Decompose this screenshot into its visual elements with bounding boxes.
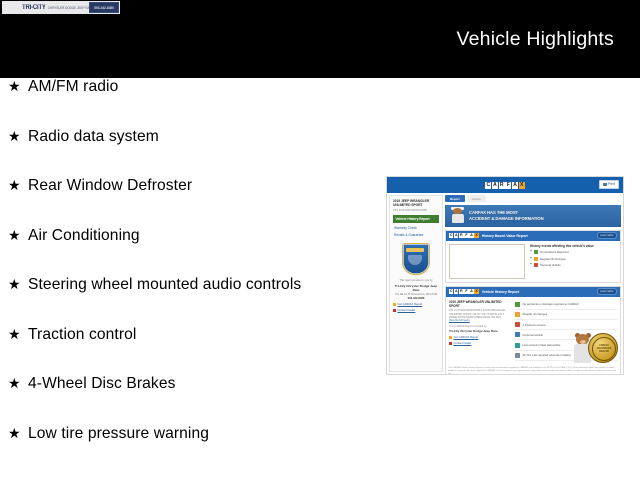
star-icon: ★ — [8, 228, 28, 242]
history-vehicle-title: 2019 JEEP WRANGLER UNLIMITED SPORT — [449, 300, 511, 308]
history-item-label: Regular oil changes — [523, 312, 548, 316]
history-get-carfax-report-link[interactable]: Get CARFAX Report — [449, 336, 511, 339]
history-vehicle-meta: VIN: 1C4HJXDG5KW510355 4-DOOR WRANGLER U… — [449, 309, 511, 319]
status-square-icon — [515, 312, 520, 317]
carfax-logo-icon: C A R F A X — [449, 289, 479, 294]
list-item-label: Traction control — [28, 326, 137, 344]
printer-icon — [603, 183, 606, 186]
star-icon: ★ — [8, 129, 28, 143]
carfax-badge-icon — [449, 336, 452, 339]
mascot-body — [452, 214, 464, 223]
status-square-icon — [515, 332, 520, 337]
logo-phone-button[interactable]: 503-342-8480 — [89, 2, 119, 13]
value-event-label: Personal Vehicle — [540, 263, 561, 267]
carfax-top-bar: C A R F A X Print — [387, 177, 623, 193]
carfax-sidebar: 2019 JEEP WRANGLER UNLIMITED SPORT VIN: … — [389, 195, 443, 372]
history-dealer-name: Tri-City Chrysler Dodge Jeep Ram — [449, 329, 511, 333]
carfax-disclaimer: This CARFAX Vehicle History Report is ba… — [446, 367, 620, 375]
sidebar-contact-dealer-link[interactable]: Contact Dealer — [393, 309, 439, 312]
carfax-logo-icon: C A R F A X — [485, 182, 524, 189]
history-item-label: 46,741 Last reported odometer reading — [523, 353, 571, 357]
plus-icon: + — [530, 250, 532, 253]
carfax-letter: R — [499, 182, 505, 189]
list-item-label: Steering wheel mounted audio controls — [28, 276, 301, 294]
list-item: ★ Low tire pressure warning — [0, 425, 380, 475]
sidebar-vehicle-title: 2019 JEEP WRANGLER UNLIMITED SPORT — [393, 199, 439, 207]
value-panel-header: C A R F A X History Based Value Report L… — [446, 231, 620, 241]
history-panel-title: Vehicle History Report — [482, 290, 519, 294]
sidebar-item-warranty-check[interactable]: Warranty Check — [393, 226, 439, 230]
print-button[interactable]: Print — [599, 180, 619, 189]
carfax-letter: X — [474, 233, 478, 238]
carfax-report-screenshot: C A R F A X Print 2019 JEEP WRANGLER UNL… — [386, 176, 624, 375]
carfax-letter: A — [492, 182, 498, 189]
carfax-letter: A — [454, 289, 458, 294]
history-based-value-panel: C A R F A X History Based Value Report L… — [445, 230, 621, 283]
value-events-column: History events affecting this vehicle's … — [530, 244, 617, 279]
list-item: ★ Air Conditioning — [0, 227, 380, 277]
value-event-row: + No Accidents Reported — [530, 250, 617, 254]
history-provided-note: This CARFAX Report Provided by — [449, 325, 511, 328]
sidebar-dealer-phone: 503-342-8480 — [393, 297, 439, 300]
carfax-letter: F — [464, 289, 468, 294]
history-vehicle-column: 2019 JEEP WRANGLER UNLIMITED SPORT VIN: … — [449, 300, 511, 361]
carfax-letter: C — [485, 182, 491, 189]
sidebar-dealer-address: 701 NE 1st St Somewhere, OR 12345 — [393, 293, 439, 296]
badge-label: CARFAX ADVANTAGE DEALER — [592, 337, 616, 361]
history-item-label: No accidents or damage reported to CARFA… — [523, 302, 579, 306]
carfax-letter: X — [474, 289, 478, 294]
sidebar-dealer-name: Tri-City Chrysler Dodge Jeep Ram — [393, 284, 439, 292]
list-item: ★ Steering wheel mounted audio controls — [0, 276, 380, 326]
status-square-icon — [515, 302, 520, 307]
value-panel-learn-more-button[interactable]: Learn More — [597, 232, 617, 239]
list-item: ★ AM/FM radio — [0, 78, 380, 128]
star-icon: ★ — [8, 178, 28, 192]
history-panel-body: 2019 JEEP WRANGLER UNLIMITED SPORT VIN: … — [446, 297, 620, 364]
carfax-letter: C — [449, 289, 453, 294]
carfax-badge-icon — [393, 303, 396, 306]
carfax-promo-banner: CARFAX HAS THE MOST ACCIDENT & DAMAGE IN… — [445, 205, 621, 227]
logo-mark-text: TRI-CITY — [22, 4, 46, 11]
history-item-row: Regular oil changes — [515, 310, 617, 320]
carfax-letter: A — [512, 182, 518, 189]
page-header: TRI-CITY CHRYSLER DODGE JEEP RAM 503-342… — [0, 0, 640, 78]
promo-line-2: ACCIDENT & DAMAGE INFORMATION — [469, 216, 544, 222]
history-panel-learn-more-button[interactable]: Learn More — [597, 288, 617, 295]
list-item: ★ Radio data system — [0, 128, 380, 178]
sidebar-action-label: Get CARFAX Report — [398, 303, 423, 306]
list-item: ★ Traction control — [0, 326, 380, 376]
list-item-label: 4-Wheel Disc Brakes — [28, 375, 175, 393]
history-action-label: Get CARFAX Report — [454, 336, 479, 339]
history-item-label: 2 Previous owners — [523, 323, 546, 327]
star-icon: ★ — [8, 277, 28, 291]
status-square-icon — [515, 343, 520, 348]
status-square-icon — [515, 353, 520, 358]
carfax-letter: C — [449, 233, 453, 238]
value-event-row: + Regular Oil Changes — [530, 257, 617, 261]
history-item-label: Personal vehicle — [523, 333, 543, 337]
star-icon: ★ — [8, 426, 28, 440]
star-icon: ★ — [8, 79, 28, 93]
dealer-logo[interactable]: TRI-CITY CHRYSLER DODGE JEEP RAM 503-342… — [2, 1, 120, 14]
history-item-label: Last owned in New Hampshire — [523, 343, 561, 347]
carfax-tab-row: Report Details — [445, 195, 621, 202]
page-title: Vehicle Highlights — [456, 28, 614, 51]
logo-subtitle-text: CHRYSLER DODGE JEEP RAM — [48, 6, 92, 10]
carfax-body: 2019 JEEP WRANGLER UNLIMITED SPORT VIN: … — [387, 193, 623, 374]
star-icon: ★ — [8, 327, 28, 341]
list-item-label: Rear Window Defroster — [28, 177, 192, 195]
sidebar-item-recalls-guarantee[interactable]: Recalls & Guarantee — [393, 233, 439, 237]
sidebar-get-carfax-report-link[interactable]: Get CARFAX Report — [393, 303, 439, 306]
history-panel-header: C A R F A X Vehicle History Report Learn… — [446, 287, 620, 297]
dealer-shield-badge-icon — [402, 243, 430, 275]
mail-icon — [449, 342, 452, 345]
sidebar-item-vehicle-history-report[interactable]: Vehicle History Report — [393, 215, 439, 223]
status-square-icon — [534, 263, 538, 267]
value-events-title: History events affecting this vehicle's … — [530, 244, 617, 248]
print-button-label: Print — [608, 182, 615, 186]
mail-icon — [393, 309, 396, 312]
list-item: ★ 4-Wheel Disc Brakes — [0, 375, 380, 425]
tab-details[interactable]: Details — [467, 195, 486, 202]
vehicle-history-report-panel: C A R F A X Vehicle History Report Learn… — [445, 286, 621, 375]
list-item: ★ Rear Window Defroster — [0, 177, 380, 227]
list-item-label: AM/FM radio — [28, 78, 118, 96]
carfax-letter: F — [464, 233, 468, 238]
carfax-advantage-dealer-badge-icon: CARFAX ADVANTAGE DEALER — [588, 333, 618, 363]
vehicle-highlights-list: ★ AM/FM radio ★ Radio data system ★ Rear… — [0, 78, 380, 474]
status-square-icon — [534, 257, 538, 261]
sidebar-dealer-note: This report provided to you by — [393, 279, 439, 282]
history-item-row: 2 Previous owners — [515, 320, 617, 330]
promo-text-block: CARFAX HAS THE MOST ACCIDENT & DAMAGE IN… — [469, 210, 544, 221]
value-event-label: No Accidents Reported — [540, 250, 569, 254]
plus-icon: + — [530, 263, 532, 266]
carfax-letter: F — [505, 182, 511, 189]
carfax-letter: A — [469, 289, 473, 294]
sidebar-action-label: Contact Dealer — [398, 309, 416, 312]
list-item-label: Air Conditioning — [28, 227, 140, 245]
carfax-logo-icon: C A R F A X — [449, 233, 479, 238]
value-event-row: + Personal Vehicle — [530, 263, 617, 267]
tab-report[interactable]: Report — [445, 195, 465, 202]
carfax-letter: A — [469, 233, 473, 238]
carfax-main-column: Report Details CARFAX HAS THE MOST ACCID… — [445, 195, 621, 372]
value-panel-body: History events affecting this vehicle's … — [446, 241, 620, 282]
value-event-label: Regular Oil Changes — [540, 257, 566, 261]
sidebar-vin: VIN: 1C4HJXDG5KW510355 — [393, 209, 439, 212]
value-chart-placeholder — [449, 244, 525, 279]
carfax-letter: X — [519, 182, 525, 189]
history-action-label: Contact Dealer — [454, 342, 472, 345]
list-item-label: Low tire pressure warning — [28, 425, 209, 443]
carfax-letter: A — [454, 233, 458, 238]
history-contact-dealer-link[interactable]: Contact Dealer — [449, 342, 511, 345]
status-square-icon — [515, 322, 520, 327]
status-square-icon — [534, 250, 538, 254]
carfax-letter: R — [459, 233, 463, 238]
carfax-mascot-icon — [450, 208, 465, 223]
carfax-letter: R — [459, 289, 463, 294]
star-icon: ★ — [8, 376, 28, 390]
value-panel-title: History Based Value Report — [482, 234, 528, 238]
history-vehicle-link[interactable]: View the full report — [449, 319, 511, 322]
plus-icon: + — [530, 257, 532, 260]
list-item-label: Radio data system — [28, 128, 159, 146]
history-item-row: No accidents or damage reported to CARFA… — [515, 300, 617, 310]
